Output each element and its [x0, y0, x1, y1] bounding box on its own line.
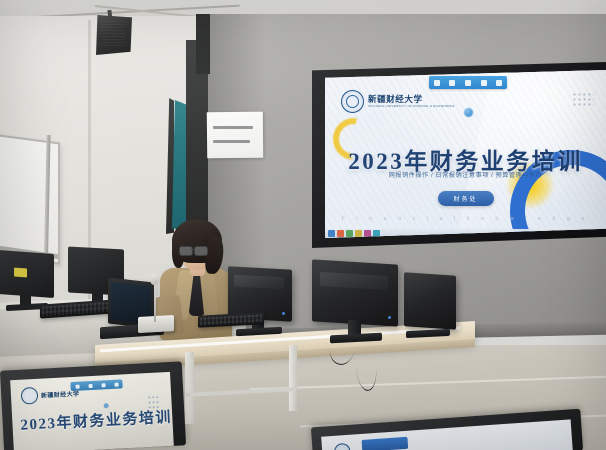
student-monitor-2 — [312, 259, 398, 326]
monitor-power-led-1 — [282, 312, 285, 315]
desk-leg-1 — [185, 352, 194, 424]
microphone-stem — [154, 280, 156, 322]
wall-notice-line-1 — [213, 126, 253, 129]
blue-dot-decoration-small — [104, 403, 109, 408]
keyboard-keys-2 — [200, 314, 262, 325]
wall-notice-line-2 — [213, 140, 250, 143]
classroom-photo: 新疆财经大学 XINJIANG UNIVERSITY OF FINANCE & … — [0, 0, 606, 450]
taskbar-icon-3[interactable] — [346, 230, 353, 237]
menu-icon-small[interactable] — [75, 384, 79, 388]
university-logo: 新疆财经大学 XINJIANG UNIVERSITY OF FINANCE & … — [341, 90, 455, 113]
page-icon-small[interactable] — [114, 382, 118, 386]
wall-display-screen[interactable]: 新疆财经大学 XINJIANG UNIVERSITY OF FINANCE & … — [325, 70, 606, 238]
eraser-icon[interactable] — [465, 80, 471, 86]
menu-icon[interactable] — [434, 80, 440, 86]
university-name-cn: 新疆财经大学 — [368, 95, 455, 104]
slide-department-badge: 财务处 — [437, 191, 493, 206]
university-seal-icon-tiny — [334, 443, 351, 450]
presenter-glasses-right — [194, 246, 208, 256]
whiteboard — [0, 134, 60, 265]
secondary-slide-title: 2023年财务业务培训 — [20, 406, 172, 435]
secondary-display-toolbar[interactable] — [70, 379, 122, 391]
blue-dot-decoration — [464, 108, 473, 117]
desk-leg-2 — [289, 345, 297, 411]
pen-icon-small[interactable] — [88, 383, 92, 387]
student-monitor-3 — [404, 272, 456, 330]
slide-footer-text: F i n a n c i a l k n o w l e d g e — [325, 216, 606, 222]
university-name-en: XINJIANG UNIVERSITY OF FINANCE & ECONOMI… — [368, 104, 455, 108]
university-seal-icon — [341, 90, 364, 113]
monitor-sticker — [14, 268, 27, 278]
monitor-back-left-1 — [0, 250, 54, 298]
dark-wall-column-upper — [196, 14, 210, 74]
speaker-grill-icon — [101, 21, 125, 47]
microphone-head-icon — [150, 274, 159, 285]
pen-icon[interactable] — [449, 80, 455, 86]
dot-grid-decoration — [572, 92, 594, 108]
foreground-monitor-left-screen[interactable]: 新疆财经大学 2023年财务业务培训 — [10, 372, 174, 450]
taskbar-icon-2[interactable] — [337, 230, 344, 237]
tertiary-display-toolbar[interactable] — [362, 437, 409, 450]
taskbar-icon-4[interactable] — [355, 230, 362, 237]
taskbar-icon-6[interactable] — [373, 230, 380, 237]
monitor-vent-2 — [320, 272, 388, 290]
display-toolbar[interactable] — [429, 76, 507, 89]
presenter-glasses-left — [179, 246, 193, 256]
monitor-vent-1 — [234, 275, 284, 290]
taskbar-icon-1[interactable] — [328, 230, 335, 237]
select-icon[interactable] — [481, 80, 487, 86]
presenter-glasses-bridge — [191, 249, 195, 250]
monitor-power-led-2 — [388, 316, 391, 319]
university-seal-icon-small — [21, 387, 39, 405]
eraser-icon-small[interactable] — [101, 383, 105, 387]
taskbar-icon-5[interactable] — [364, 230, 371, 237]
slide-subtitle: 网报销件操作 / 日常报销注意事项 / 预算管理与执行 — [325, 170, 606, 179]
page-icon[interactable] — [496, 80, 502, 86]
wall-notice-sign — [207, 112, 263, 159]
